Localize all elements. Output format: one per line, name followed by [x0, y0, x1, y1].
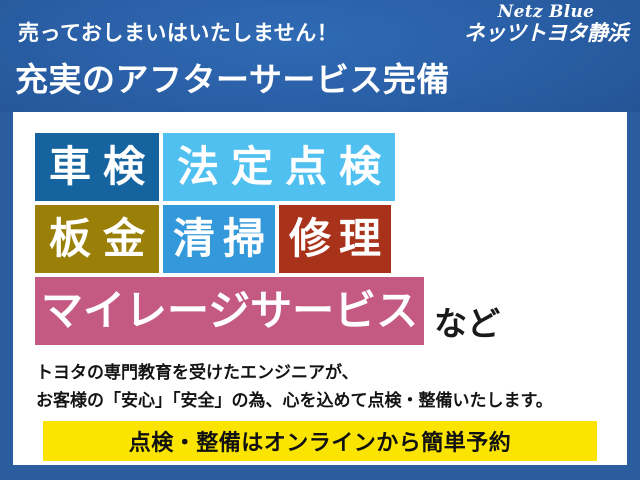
service-tag-grid: 車検 法定点検 板金 清掃 修理 マイレージサービス など [35, 133, 620, 349]
online-booking-banner[interactable]: 点検・整備はオンラインから簡単予約 [43, 421, 597, 461]
online-booking-banner-text: 点検・整備はオンラインから簡単予約 [129, 425, 512, 457]
header-tagline: 売っておしまいはいたしません！ [18, 17, 338, 47]
service-tag-suffix: など [428, 277, 500, 348]
advertisement-poster: 売っておしまいはいたしません！ 充実のアフターサービス完備 Netz Blue … [0, 0, 640, 480]
poster-header: 売っておしまいはいたしません！ 充実のアフターサービス完備 Netz Blue … [0, 0, 640, 112]
service-tag-row: 板金 清掃 修理 [35, 205, 620, 273]
service-tag-hotei-tenken: 法定点検 [163, 133, 395, 201]
brand-logo: Netz Blue ネッツトヨタ静浜 [461, 4, 631, 45]
brand-logo-japanese: ネッツトヨタ静浜 [461, 22, 631, 46]
service-tag-mileage-service: マイレージサービス [35, 277, 424, 345]
header-headline: 充実のアフターサービス完備 [15, 53, 450, 101]
body-copy-line-1: トヨタの専門教育を受けたエンジニアが、 [36, 360, 616, 388]
content-panel: 車検 法定点検 板金 清掃 修理 マイレージサービス など トヨタの専門教育を受… [13, 112, 627, 465]
service-tag-shuuri: 修理 [279, 205, 391, 273]
service-tag-row: マイレージサービス など [35, 277, 620, 345]
service-tag-bankin: 板金 [35, 205, 159, 273]
brand-logo-english: Netz Blue [461, 4, 631, 22]
service-tag-shaken: 車検 [35, 133, 159, 201]
body-copy-line-2: お客様の「安心」「安全」の為、心を込めて点検・整備いたします。 [36, 388, 616, 416]
service-tag-row: 車検 法定点検 [35, 133, 620, 201]
service-tag-seisou: 清掃 [163, 205, 275, 273]
body-copy: トヨタの専門教育を受けたエンジニアが、 お客様の「安心」「安全」の為、心を込めて… [36, 360, 616, 415]
